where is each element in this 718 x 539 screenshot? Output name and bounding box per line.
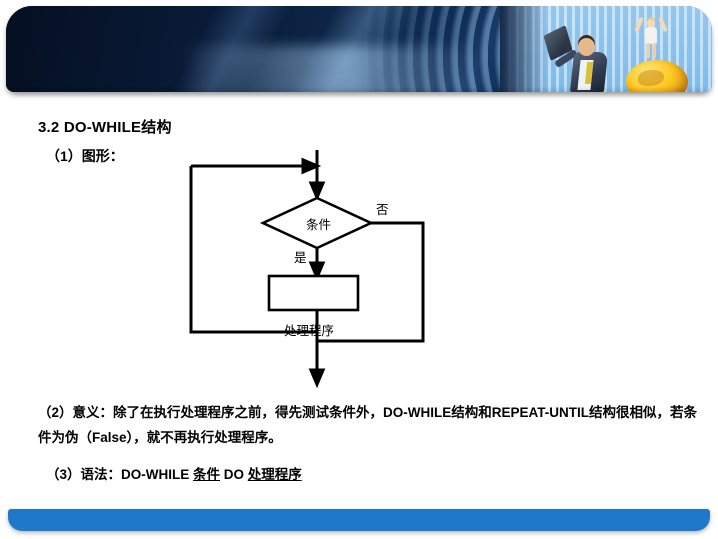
syntax-process: 处理程序 (248, 467, 302, 482)
process-box (269, 276, 358, 310)
meaning-paragraph: （2）意义：除了在执行处理程序之前，得先测试条件外，DO-WHILE结构和REP… (38, 400, 700, 450)
decision-label: 条件 (306, 214, 331, 233)
syntax-prefix: （3）语法：DO-WHILE (46, 467, 193, 482)
branch-no-label: 否 (376, 199, 389, 218)
syntax-paragraph: （3）语法：DO-WHILE 条件 DO 处理程序 (46, 462, 646, 487)
footer-bar (8, 509, 710, 531)
process-label: 处理程序 (284, 320, 334, 339)
flowchart-diagram (0, 0, 718, 539)
branch-yes-label: 是 (294, 247, 307, 266)
syntax-condition: 条件 (193, 467, 220, 482)
syntax-middle: DO (220, 467, 248, 482)
slide-canvas: 3.2 DO-WHILE结构 （1）图形： 条件 处理程序 否 是 （2）意义：… (0, 0, 718, 539)
